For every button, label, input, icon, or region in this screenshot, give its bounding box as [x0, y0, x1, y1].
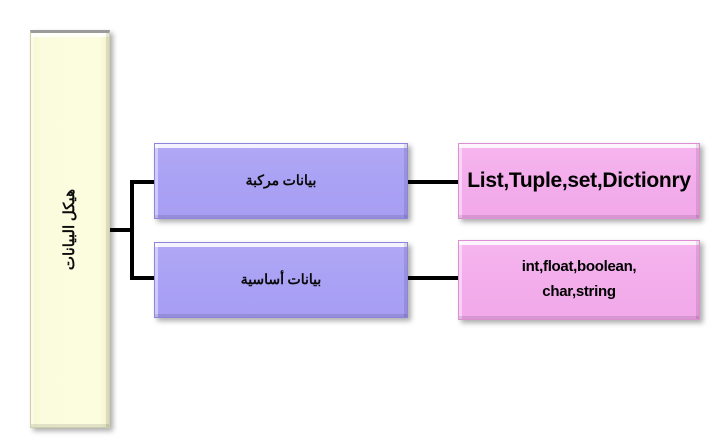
- diagram-canvas: هيكل البيانات بيانات مركبة بيانات أساسية…: [0, 0, 726, 441]
- node-primitive-types-line1: int,float,boolean,: [522, 258, 637, 275]
- bevel-shadow-right: [404, 243, 407, 317]
- bevel-highlight-top: [155, 243, 407, 247]
- connector-trunk-to-primitive: [130, 276, 156, 280]
- bevel-highlight-left: [459, 144, 462, 218]
- node-primitive-types-label: int,float,boolean, char,string: [522, 255, 637, 305]
- bevel-highlight-left: [155, 144, 158, 218]
- connector-trunk-vertical: [130, 180, 134, 280]
- bevel-shadow-bottom: [155, 314, 407, 317]
- bevel-shadow-bottom: [459, 215, 699, 218]
- connector-primitive-to-types: [406, 276, 460, 280]
- bevel-highlight-left: [459, 241, 462, 319]
- bevel-shadow-right: [404, 144, 407, 218]
- node-primitive-types-line2: char,string: [542, 283, 615, 300]
- node-composite-data-label: بيانات مركبة: [246, 173, 317, 190]
- bevel-shadow-right: [106, 33, 109, 427]
- node-composite-types-label: List,Tuple,set,Dictionry: [467, 164, 690, 199]
- bevel-shadow-bottom: [459, 316, 699, 319]
- node-root-label: هيكل البيانات: [63, 189, 78, 270]
- bevel-shadow-right: [696, 241, 699, 319]
- bevel-highlight-left: [155, 243, 158, 317]
- connector-trunk-to-composite: [130, 180, 156, 184]
- bevel-shadow-bottom: [155, 215, 407, 218]
- bevel-highlight-top: [459, 241, 699, 245]
- connector-composite-to-types: [406, 180, 460, 184]
- bevel-highlight-left: [31, 33, 34, 427]
- bevel-highlight-top: [459, 144, 699, 148]
- node-primitive-data[interactable]: بيانات أساسية: [154, 242, 408, 318]
- node-composite-types[interactable]: List,Tuple,set,Dictionry: [458, 143, 700, 219]
- bevel-highlight-top: [155, 144, 407, 148]
- bevel-highlight-top: [31, 33, 109, 37]
- node-primitive-data-label: بيانات أساسية: [241, 272, 322, 289]
- node-composite-data[interactable]: بيانات مركبة: [154, 143, 408, 219]
- bevel-shadow-bottom: [31, 424, 109, 427]
- node-primitive-types[interactable]: int,float,boolean, char,string: [458, 240, 700, 320]
- bevel-shadow-right: [696, 144, 699, 218]
- node-root-data-structure[interactable]: هيكل البيانات: [30, 30, 110, 428]
